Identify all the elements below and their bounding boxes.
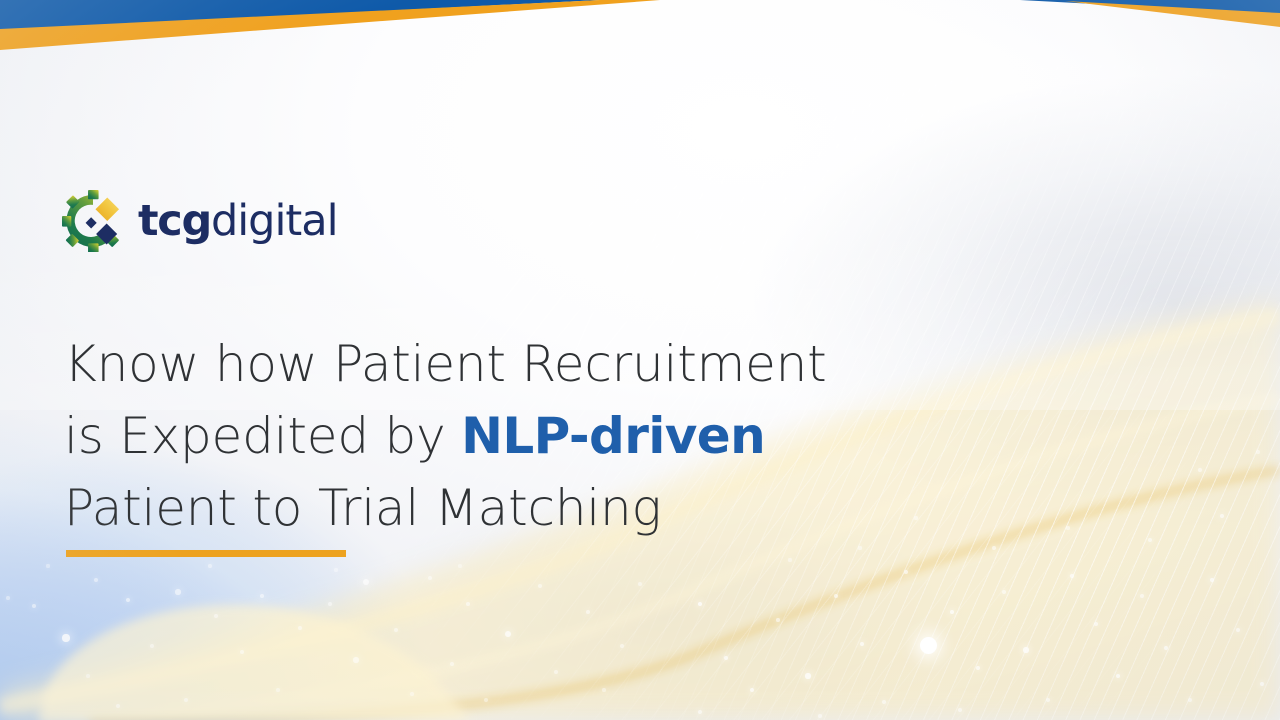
title-card-slide: tcgdigital Know how Patient Recruitment … [0,0,1280,720]
vignette-overlay [0,0,1280,720]
